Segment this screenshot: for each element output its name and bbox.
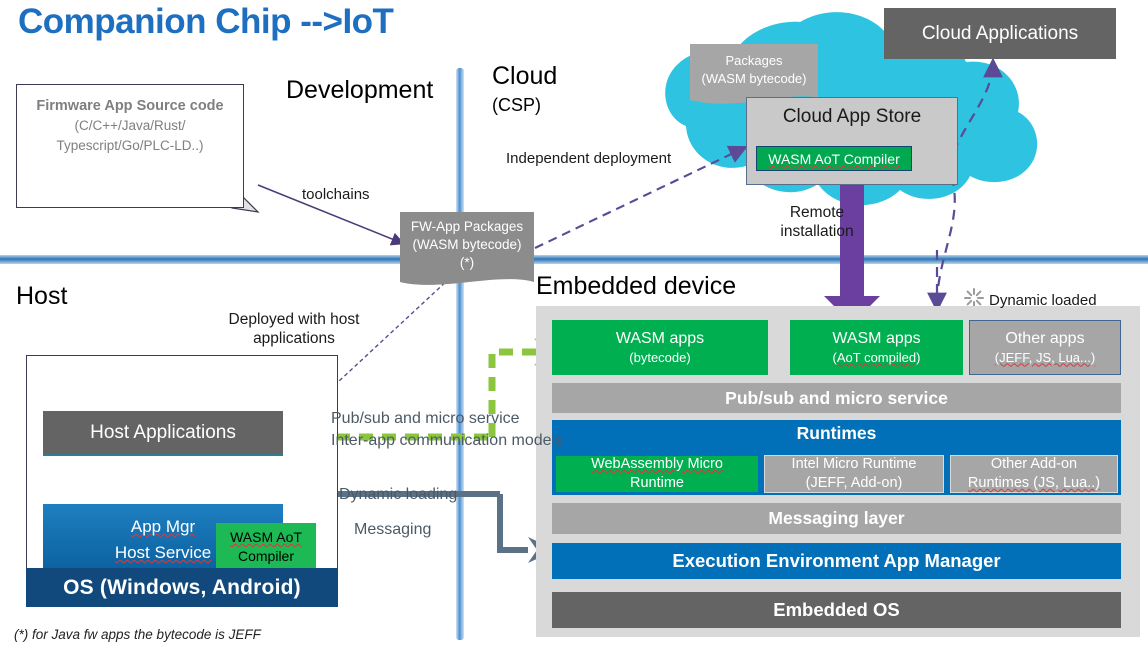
embedded-runtime-3-line2: Runtimes (JS, Lua..)	[968, 475, 1100, 491]
host-aot-line2: Compiler	[230, 547, 302, 566]
footnote: (*) for Java fw apps the bytecode is JEF…	[14, 627, 261, 642]
embedded-app-1-line1: WASM apps	[616, 329, 704, 348]
embedded-runtime-other[interactable]: Other Add-on Runtimes (JS, Lua..)	[950, 455, 1118, 493]
embedded-messaging-layer-label: Messaging layer	[768, 508, 904, 529]
host-os-label: OS (Windows, Android)	[63, 576, 301, 600]
cloud-aot-compiler-label: WASM AoT Compiler	[768, 151, 899, 167]
cloud-applications-box[interactable]: Cloud Applications	[884, 8, 1116, 59]
host-appmgr-line2: Host Service	[115, 543, 211, 562]
host-applications-label: Host Applications	[90, 422, 236, 444]
embedded-runtime-1-line2: Runtime	[591, 474, 723, 493]
caption-deployed-with-host-line2: applications	[216, 329, 372, 348]
embedded-pubsub-bar[interactable]: Pub/sub and micro service	[552, 383, 1121, 413]
caption-independent-deployment: Independent deployment	[506, 150, 671, 167]
dynamic-loaded-legend: Dynamic loaded	[989, 292, 1097, 309]
vertical-divider	[456, 68, 464, 640]
embedded-app-2-line1: WASM apps	[832, 329, 920, 348]
embedded-app-wasm-bytecode[interactable]: WASM apps (bytecode)	[552, 320, 768, 375]
caption-remote-installation-line1: Remote	[762, 203, 872, 222]
host-aot-line1: WASM AoT	[230, 529, 302, 545]
embedded-app-other[interactable]: Other apps (JEFF, JS, Lua...)	[969, 320, 1121, 375]
source-box-line1: (C/C++/Java/Rust/	[17, 117, 243, 135]
host-aot-compiler-box[interactable]: WASM AoT Compiler	[216, 523, 316, 571]
embedded-runtime-intel[interactable]: Intel Micro Runtime (JEFF, Add-on)	[764, 455, 944, 493]
embedded-runtime-3-line1: Other Add-on	[968, 455, 1100, 474]
embedded-app-2-line2: (AoT compiled)	[832, 348, 920, 367]
host-appmgr-line1: App Mgr	[131, 517, 195, 536]
fw-app-packages-line2: (WASM bytecode)	[400, 236, 534, 254]
embedded-runtimes-title: Runtimes	[552, 421, 1121, 445]
caption-dynamic-loading: Dynamic loading	[339, 486, 457, 504]
cloud-aot-compiler-box[interactable]: WASM AoT Compiler	[756, 146, 912, 171]
embedded-messaging-layer[interactable]: Messaging layer	[552, 503, 1121, 534]
host-os-bar[interactable]: OS (Windows, Android)	[26, 568, 338, 607]
cloud-app-store-title: Cloud App Store	[747, 106, 957, 128]
caption-pubsub-micro-service: Pub/sub and micro service	[331, 410, 520, 428]
page-title: Companion Chip -->IoT	[18, 2, 393, 42]
firmware-source-code-box: Firmware App Source code (C/C++/Java/Rus…	[16, 84, 244, 208]
embedded-app-manager[interactable]: Execution Environment App Manager	[552, 543, 1121, 579]
embedded-runtime-wamr[interactable]: WebAssembly Micro Runtime	[555, 455, 759, 493]
cloud-packages-label: Packages (WASM bytecode)	[690, 52, 818, 88]
caption-messaging: Messaging	[354, 521, 431, 539]
caption-toolchains: toolchains	[302, 186, 370, 203]
embedded-os[interactable]: Embedded OS	[552, 592, 1121, 628]
caption-deployed-with-host: Deployed with host applications	[216, 310, 372, 348]
source-box-line2: Typescript/Go/PLC-LD..)	[17, 137, 243, 155]
embedded-runtime-2-line1: Intel Micro Runtime	[792, 455, 917, 474]
embedded-app-1-line2: (bytecode)	[616, 348, 704, 367]
section-label-embedded-device: Embedded device	[536, 272, 736, 301]
section-label-development: Development	[286, 76, 433, 105]
embedded-app-manager-label: Execution Environment App Manager	[672, 550, 1000, 572]
source-box-title: Firmware App Source code	[17, 98, 243, 115]
remote-installation-arrow	[824, 172, 880, 324]
embedded-runtime-2-line2: (JEFF, Add-on)	[792, 474, 917, 493]
cloud-packages-line2: (WASM bytecode)	[690, 70, 818, 88]
embedded-app-3-line1: Other apps	[995, 329, 1095, 348]
embedded-os-label: Embedded OS	[773, 599, 899, 621]
caption-deployed-with-host-line1: Deployed with host	[216, 310, 372, 329]
cloud-app-store-box[interactable]: Cloud App Store	[746, 97, 958, 185]
spinner-icon-dynamic-loaded	[965, 289, 983, 307]
caption-remote-installation: Remote installation	[762, 203, 872, 241]
embedded-runtime-1-line1: WebAssembly Micro	[591, 456, 723, 472]
embedded-pubsub-label: Pub/sub and micro service	[725, 388, 948, 409]
caption-remote-installation-line2: installation	[762, 222, 872, 241]
embedded-app-3-line2: (JEFF, JS, Lua...)	[995, 348, 1095, 367]
caption-inter-app-communication: Inter-app communication models	[331, 432, 563, 450]
fw-app-packages-line3: (*)	[400, 254, 534, 272]
host-applications-box[interactable]: Host Applications	[43, 411, 283, 456]
section-label-cloud-sub: (CSP)	[492, 95, 541, 116]
fw-app-packages-line1: FW-App Packages	[400, 218, 534, 236]
section-label-cloud: Cloud	[492, 62, 557, 91]
cloud-packages-line1: Packages	[690, 52, 818, 70]
embedded-runtimes-title-label: Runtimes	[797, 423, 877, 444]
diagram-canvas: Companion Chip -->IoT Development Cloud …	[0, 0, 1148, 653]
horizontal-divider	[0, 255, 1148, 264]
cloud-applications-label: Cloud Applications	[922, 23, 1078, 45]
fw-app-packages-label: FW-App Packages (WASM bytecode) (*)	[400, 218, 534, 272]
section-label-host: Host	[16, 282, 67, 311]
embedded-app-wasm-aot[interactable]: WASM apps (AoT compiled)	[790, 320, 963, 375]
